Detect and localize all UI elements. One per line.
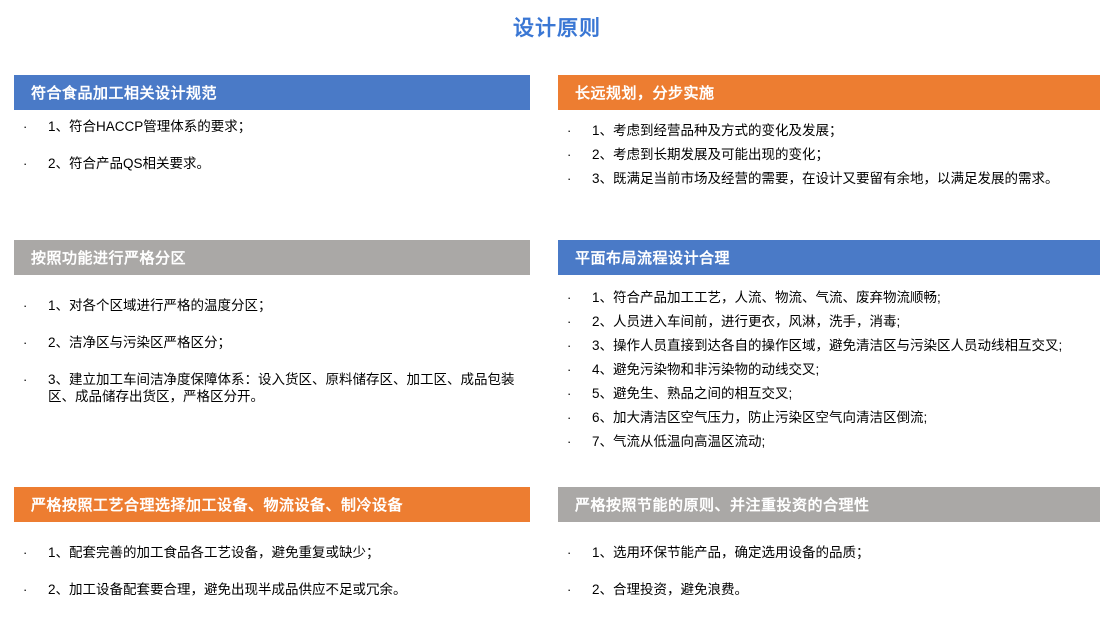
bullet-icon: · bbox=[14, 297, 48, 314]
list-item: · 3、操作人员直接到达各自的操作区域，避免清洁区与污染区人员动线相互交叉; bbox=[558, 337, 1100, 354]
bullet-icon: · bbox=[558, 385, 592, 402]
list-item: · 1、选用环保节能产品，确定选用设备的品质； bbox=[558, 544, 1100, 561]
panel-body-zoning: · 1、对各个区域进行严格的温度分区； · 2、洁净区与污染区严格区分； · 3… bbox=[14, 275, 530, 405]
panel-food-standards: 符合食品加工相关设计规范 · 1、符合HACCP管理体系的要求； · 2、符合产… bbox=[14, 75, 530, 192]
bullet-icon: · bbox=[14, 155, 48, 172]
list-item-text: 1、符合产品加工工艺，人流、物流、气流、废弃物流顺畅; bbox=[592, 289, 1100, 306]
panel-body-equipment: · 1、配套完善的加工食品各工艺设备，避免重复或缺少； · 2、加工设备配套要合… bbox=[14, 522, 530, 598]
bullet-icon: · bbox=[558, 581, 592, 598]
list-item: · 5、避免生、熟品之间的相互交叉; bbox=[558, 385, 1100, 402]
list-item-text: 2、人员进入车间前，进行更衣，风淋，洗手，消毒; bbox=[592, 313, 1100, 330]
list-item-text: 5、避免生、熟品之间的相互交叉; bbox=[592, 385, 1100, 402]
panel-energy: 严格按照节能的原则、并注重投资的合理性 · 1、选用环保节能产品，确定选用设备的… bbox=[558, 487, 1100, 618]
list-item: · 2、符合产品QS相关要求。 bbox=[14, 155, 530, 172]
list-item-text: 1、考虑到经营品种及方式的变化及发展； bbox=[592, 122, 1100, 139]
bullet-icon: · bbox=[558, 337, 592, 354]
bullet-icon: · bbox=[558, 409, 592, 426]
panel-zoning: 按照功能进行严格分区 · 1、对各个区域进行严格的温度分区； · 2、洁净区与污… bbox=[14, 240, 530, 425]
list-item-text: 1、符合HACCP管理体系的要求； bbox=[48, 118, 530, 135]
panel-header-energy: 严格按照节能的原则、并注重投资的合理性 bbox=[558, 487, 1100, 522]
page-title: 设计原则 bbox=[0, 12, 1114, 42]
list-item: · 1、配套完善的加工食品各工艺设备，避免重复或缺少； bbox=[14, 544, 530, 561]
bullet-icon: · bbox=[14, 334, 48, 351]
bullet-icon: · bbox=[14, 118, 48, 135]
list-item: · 2、洁净区与污染区严格区分； bbox=[14, 334, 530, 351]
list-item-text: 2、考虑到长期发展及可能出现的变化； bbox=[592, 146, 1100, 163]
list-item-text: 4、避免污染物和非污染物的动线交叉; bbox=[592, 361, 1100, 378]
bullet-icon: · bbox=[558, 146, 592, 163]
panel-header-food-standards: 符合食品加工相关设计规范 bbox=[14, 75, 530, 110]
bullet-icon: · bbox=[14, 581, 48, 598]
list-item-text: 7、气流从低温向高温区流动; bbox=[592, 433, 1100, 450]
list-item: · 3、建立加工车间洁净度保障体系：设入货区、原料储存区、加工区、成品包装区、成… bbox=[14, 371, 530, 405]
panel-body-energy: · 1、选用环保节能产品，确定选用设备的品质； · 2、合理投资，避免浪费。 bbox=[558, 522, 1100, 598]
list-item-text: 3、操作人员直接到达各自的操作区域，避免清洁区与污染区人员动线相互交叉; bbox=[592, 337, 1100, 354]
bullet-icon: · bbox=[14, 371, 48, 388]
list-item: · 2、合理投资，避免浪费。 bbox=[558, 581, 1100, 598]
list-item: · 2、人员进入车间前，进行更衣，风淋，洗手，消毒; bbox=[558, 313, 1100, 330]
list-item: · 1、对各个区域进行严格的温度分区； bbox=[14, 297, 530, 314]
list-item-text: 1、配套完善的加工食品各工艺设备，避免重复或缺少； bbox=[48, 544, 530, 561]
panel-body-food-standards: · 1、符合HACCP管理体系的要求； · 2、符合产品QS相关要求。 bbox=[14, 110, 530, 172]
bullet-icon: · bbox=[558, 289, 592, 306]
list-item: · 1、符合产品加工工艺，人流、物流、气流、废弃物流顺畅; bbox=[558, 289, 1100, 306]
list-item-text: 2、合理投资，避免浪费。 bbox=[592, 581, 1100, 598]
panel-header-zoning: 按照功能进行严格分区 bbox=[14, 240, 530, 275]
list-item: · 2、考虑到长期发展及可能出现的变化； bbox=[558, 146, 1100, 163]
bullet-icon: · bbox=[558, 313, 592, 330]
panel-header-layout-flow: 平面布局流程设计合理 bbox=[558, 240, 1100, 275]
bullet-icon: · bbox=[558, 170, 592, 187]
bullet-icon: · bbox=[14, 544, 48, 561]
list-item-text: 1、对各个区域进行严格的温度分区； bbox=[48, 297, 530, 314]
list-item-text: 6、加大清洁区空气压力，防止污染区空气向清洁区倒流; bbox=[592, 409, 1100, 426]
list-item: · 4、避免污染物和非污染物的动线交叉; bbox=[558, 361, 1100, 378]
list-item-text: 1、选用环保节能产品，确定选用设备的品质； bbox=[592, 544, 1100, 561]
panel-long-term: 长远规划，分步实施 · 1、考虑到经营品种及方式的变化及发展； · 2、考虑到长… bbox=[558, 75, 1100, 194]
list-item: · 6、加大清洁区空气压力，防止污染区空气向清洁区倒流; bbox=[558, 409, 1100, 426]
bullet-icon: · bbox=[558, 361, 592, 378]
panel-body-long-term: · 1、考虑到经营品种及方式的变化及发展； · 2、考虑到长期发展及可能出现的变… bbox=[558, 110, 1100, 187]
panel-header-long-term: 长远规划，分步实施 bbox=[558, 75, 1100, 110]
list-item-text: 3、建立加工车间洁净度保障体系：设入货区、原料储存区、加工区、成品包装区、成品储… bbox=[48, 371, 530, 405]
list-item: · 7、气流从低温向高温区流动; bbox=[558, 433, 1100, 450]
list-item-text: 2、加工设备配套要合理，避免出现半成品供应不足或冗余。 bbox=[48, 581, 530, 598]
list-item: · 2、加工设备配套要合理，避免出现半成品供应不足或冗余。 bbox=[14, 581, 530, 598]
list-item: · 1、考虑到经营品种及方式的变化及发展； bbox=[558, 122, 1100, 139]
bullet-icon: · bbox=[558, 433, 592, 450]
list-item-text: 2、洁净区与污染区严格区分； bbox=[48, 334, 530, 351]
bullet-icon: · bbox=[558, 544, 592, 561]
list-item: · 3、既满足当前市场及经营的需要，在设计又要留有余地，以满足发展的需求。 bbox=[558, 170, 1100, 187]
list-item-text: 3、既满足当前市场及经营的需要，在设计又要留有余地，以满足发展的需求。 bbox=[592, 170, 1100, 187]
list-item: · 1、符合HACCP管理体系的要求； bbox=[14, 118, 530, 135]
bullet-icon: · bbox=[558, 122, 592, 139]
panel-layout-flow: 平面布局流程设计合理 · 1、符合产品加工工艺，人流、物流、气流、废弃物流顺畅;… bbox=[558, 240, 1100, 457]
list-item-text: 2、符合产品QS相关要求。 bbox=[48, 155, 530, 172]
panel-equipment: 严格按照工艺合理选择加工设备、物流设备、制冷设备 · 1、配套完善的加工食品各工… bbox=[14, 487, 530, 618]
panel-header-equipment: 严格按照工艺合理选择加工设备、物流设备、制冷设备 bbox=[14, 487, 530, 522]
panel-body-layout-flow: · 1、符合产品加工工艺，人流、物流、气流、废弃物流顺畅; · 2、人员进入车间… bbox=[558, 275, 1100, 450]
